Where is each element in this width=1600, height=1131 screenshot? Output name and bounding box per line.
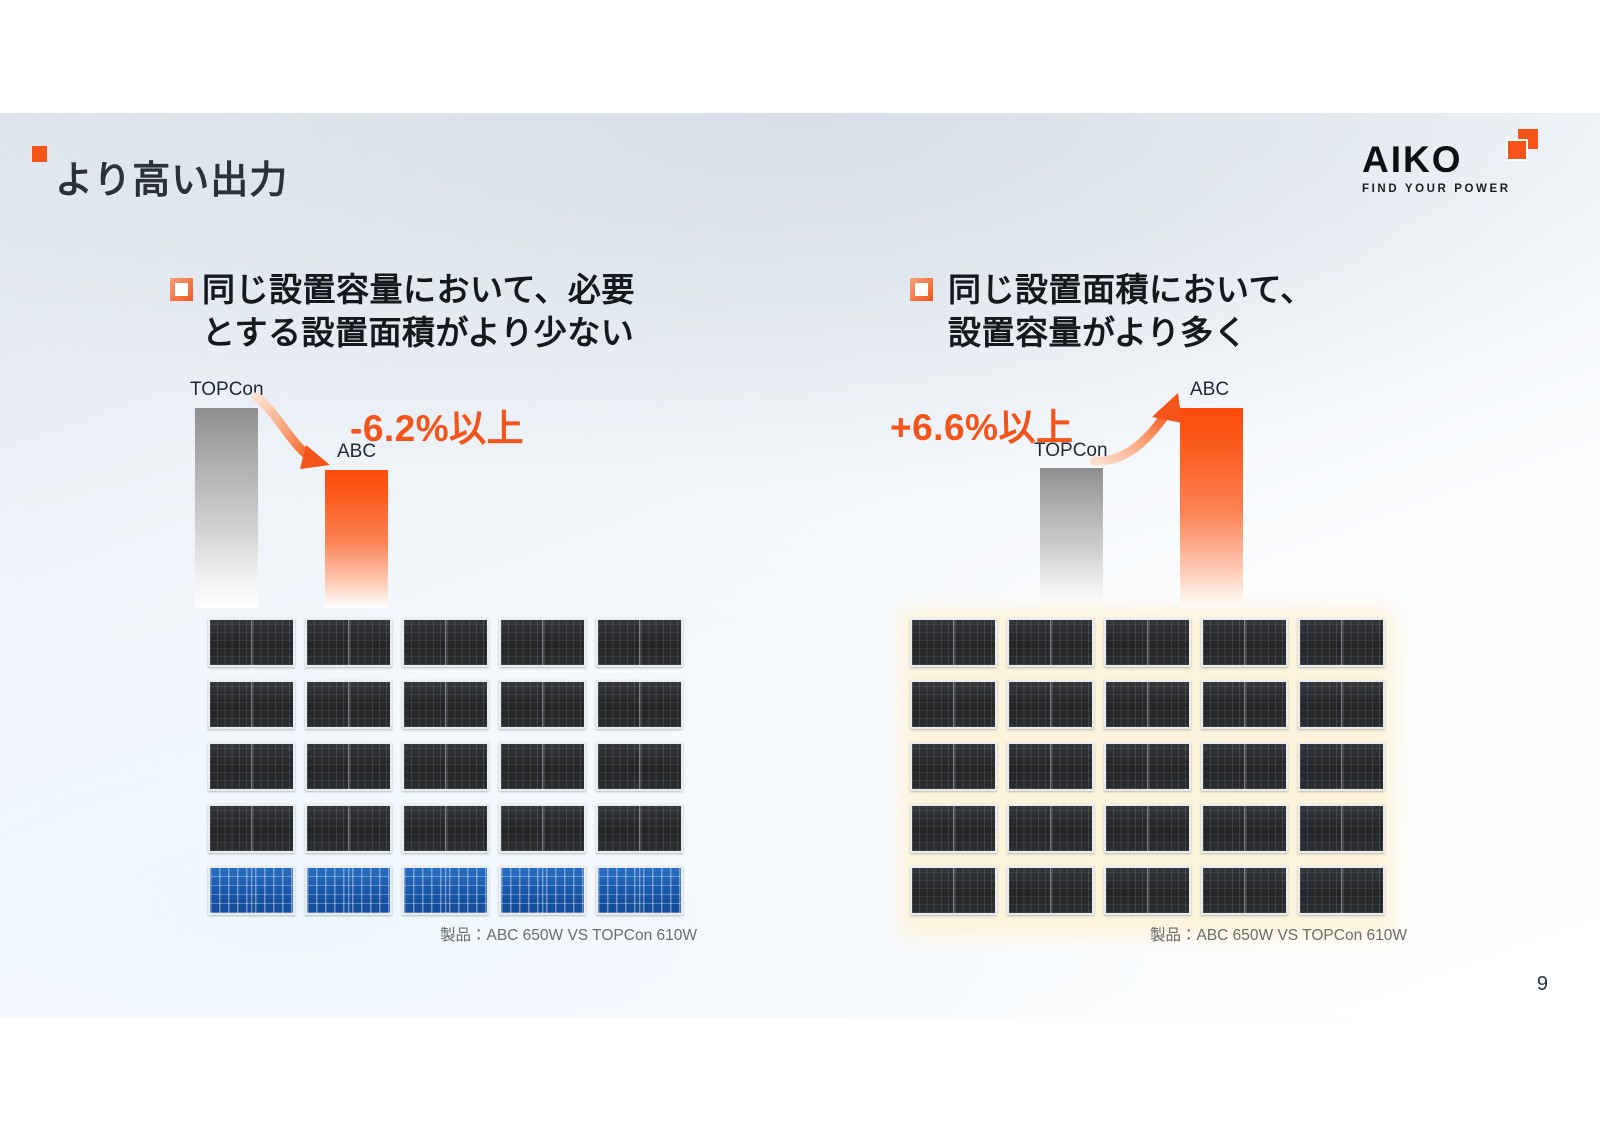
solar-module [1298, 742, 1385, 791]
solar-module [910, 742, 997, 791]
solar-module [208, 618, 295, 667]
solar-module [402, 804, 489, 853]
solar-module [596, 680, 683, 729]
solar-module [305, 618, 392, 667]
solar-module [402, 618, 489, 667]
delta-label: +6.6%以上 [890, 397, 1073, 451]
solar-module [596, 742, 683, 791]
solar-module-extra [402, 866, 489, 915]
solar-module [499, 680, 586, 729]
chart-area-required: TOPCon ABC -6.2%以上 [150, 393, 710, 608]
bar-topcon [195, 408, 258, 608]
solar-module [1298, 866, 1385, 915]
solar-module [1298, 804, 1385, 853]
panel-subtitle: 同じ設置容量において、必要 とする設置面積がより少ない [202, 269, 702, 355]
module-grid-right [910, 618, 1385, 928]
logo-tagline: FIND YOUR POWER [1362, 183, 1522, 195]
module-row-extra [208, 866, 683, 915]
solar-module [1201, 866, 1288, 915]
solar-module [1007, 680, 1094, 729]
solar-module [596, 618, 683, 667]
solar-module [402, 742, 489, 791]
module-row [208, 742, 683, 791]
solar-module [1007, 742, 1094, 791]
solar-module [499, 742, 586, 791]
solar-module [910, 866, 997, 915]
up-arrow-icon [1090, 389, 1200, 489]
logo-wordmark: AIKO [1362, 141, 1522, 178]
module-row [910, 804, 1385, 853]
solar-module [1298, 680, 1385, 729]
solar-module [208, 742, 295, 791]
solar-module [1104, 804, 1191, 853]
solar-module-extra [596, 866, 683, 915]
title-bullet-icon [32, 146, 47, 162]
module-row [208, 618, 683, 667]
solar-module [305, 804, 392, 853]
solar-module [1298, 618, 1385, 667]
solar-module [1104, 866, 1191, 915]
down-arrow-icon [250, 391, 360, 491]
solar-module [1104, 680, 1191, 729]
solar-module [1201, 804, 1288, 853]
panel-subtitle: 同じ設置面積において、 設置容量がより多く [948, 269, 1418, 355]
module-row [910, 866, 1385, 915]
solar-module [1007, 866, 1094, 915]
solar-module [910, 618, 997, 667]
module-row [208, 804, 683, 853]
solar-module [1104, 618, 1191, 667]
logo-square-front-icon [1506, 139, 1528, 161]
solar-module-extra [305, 866, 392, 915]
solar-module [1201, 618, 1288, 667]
solar-module [1201, 742, 1288, 791]
panel-bullet-icon [170, 278, 193, 301]
solar-module [208, 680, 295, 729]
module-row [208, 680, 683, 729]
solar-module [402, 680, 489, 729]
footnote: 製品：ABC 650W VS TOPCon 610W [440, 923, 697, 945]
slide-canvas: より高い出力 AIKO FIND YOUR POWER 同じ設置容量において、必… [0, 113, 1600, 1018]
bar-topcon [1040, 468, 1103, 608]
chart-capacity-installed: TOPCon ABC +6.6%以上 [890, 393, 1450, 608]
module-grid-left [208, 618, 683, 928]
solar-module [596, 804, 683, 853]
solar-module [910, 680, 997, 729]
solar-module-extra [499, 866, 586, 915]
delta-label: -6.2%以上 [350, 398, 524, 452]
solar-module [499, 618, 586, 667]
solar-module [305, 680, 392, 729]
footnote: 製品：ABC 650W VS TOPCon 610W [1150, 923, 1407, 945]
solar-module [1007, 804, 1094, 853]
solar-module [208, 804, 295, 853]
solar-module [305, 742, 392, 791]
solar-module [910, 804, 997, 853]
module-row [910, 618, 1385, 667]
solar-module-extra [208, 866, 295, 915]
page-title: より高い出力 [55, 149, 288, 204]
solar-module [1104, 742, 1191, 791]
aiko-logo: AIKO FIND YOUR POWER [1362, 141, 1522, 211]
solar-module [499, 804, 586, 853]
solar-module [1201, 680, 1288, 729]
module-row [910, 680, 1385, 729]
panel-bullet-icon [910, 278, 933, 301]
page-number: 9 [1537, 973, 1548, 996]
solar-module [1007, 618, 1094, 667]
module-row [910, 742, 1385, 791]
